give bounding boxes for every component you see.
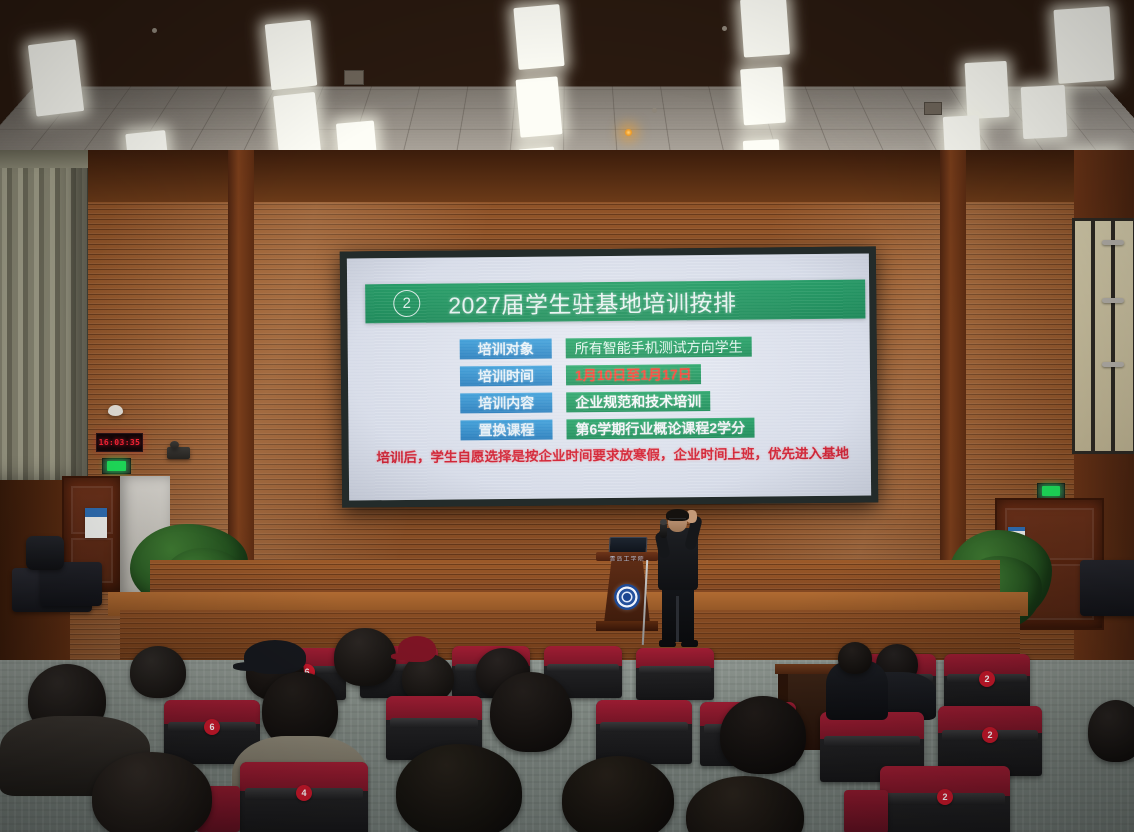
- university-crest-icon: [614, 584, 640, 610]
- audience-head: [334, 628, 396, 686]
- audience-cap: [244, 640, 306, 674]
- slide-row: 培训内容 企业规范和技术培训: [460, 391, 754, 414]
- slide-row-label: 培训内容: [460, 393, 552, 414]
- audience-head: [490, 672, 572, 752]
- seat-cushion: [636, 648, 714, 668]
- seat-rail: [547, 664, 619, 672]
- slide-row-value: 1月10日至1月17日: [566, 364, 701, 385]
- audience-head: [92, 752, 212, 832]
- ceiling-light-panel: [516, 76, 563, 137]
- seat[interactable]: [596, 700, 692, 764]
- ceiling-light-panel: [273, 92, 321, 156]
- audience-head: [1088, 700, 1134, 762]
- slide-row: 培训对象 所有智能手机测试方向学生: [460, 337, 754, 360]
- seat-rail: [390, 718, 478, 728]
- slide-row-value: 第6学期行业概论课程2学分: [566, 418, 754, 440]
- speaker-shoe-left: [659, 640, 676, 647]
- seat-rail: [639, 666, 711, 674]
- seat-rail: [600, 722, 688, 732]
- ceiling-sensor: [722, 26, 727, 31]
- slide-row-label: 培训时间: [460, 366, 552, 387]
- handheld-microphone-icon: [660, 522, 667, 538]
- audience-beanie-red: [398, 636, 436, 662]
- slide-title-bar: 2 2027届学生驻基地培训按排: [365, 280, 865, 324]
- exit-icon: [107, 461, 126, 470]
- window-handle[interactable]: [1102, 362, 1124, 367]
- slide-row: 培训时间 1月10日至1月17日: [460, 364, 754, 387]
- seat-number-badge: 2: [979, 671, 995, 687]
- seat[interactable]: [636, 648, 714, 700]
- slide-row-label: 培训对象: [460, 339, 552, 360]
- seat-rail: [824, 736, 920, 747]
- slide-number-badge: 2: [393, 290, 420, 317]
- side-chair-right[interactable]: [1080, 560, 1134, 616]
- slide-title-text: 2027届学生驻基地培训按排: [448, 283, 736, 320]
- slide-footnote: 培训后，学生自愿选择是按企业时间要求放寒假，企业时间上班，优先进入基地: [371, 442, 855, 467]
- speaker-glasses: [669, 518, 686, 523]
- podium-base: [596, 621, 658, 631]
- seat-cushion: [386, 696, 482, 720]
- clock-time-text: 16:03:35: [99, 438, 141, 447]
- exit-sign-right: [1037, 483, 1065, 499]
- seat[interactable]: 2: [944, 654, 1030, 712]
- window-mullion: [1111, 221, 1115, 451]
- audience-head: [562, 756, 674, 832]
- seat-armrest: [844, 790, 888, 832]
- ceiling-vent: [344, 70, 364, 85]
- seat-number-badge: 6: [204, 719, 220, 735]
- seat-cushion: [544, 646, 622, 666]
- door-notice-header-left: [85, 508, 107, 517]
- auditorium-photo: 2 2027届学生驻基地培训按排 培训对象 所有智能手机测试方向学生 培训时间 …: [0, 0, 1134, 832]
- slide-info-table: 培训对象 所有智能手机测试方向学生 培训时间 1月10日至1月17日 培训内容 …: [460, 337, 755, 441]
- ceiling-light-panel: [513, 4, 564, 70]
- ceiling-light-panel: [740, 0, 790, 58]
- slide-row-label: 置换课程: [460, 420, 552, 441]
- audience-head: [720, 696, 806, 774]
- amber-indicator-lamp: [624, 128, 633, 137]
- exit-sign-left: [102, 458, 131, 474]
- window-curtain-left: [0, 150, 88, 480]
- slide-row: 置换课程 第6学期行业概论课程2学分: [460, 418, 754, 441]
- window-handle[interactable]: [1102, 240, 1124, 245]
- ceiling-light-panel: [28, 39, 84, 116]
- projection-screen: 2 2027届学生驻基地培训按排 培训对象 所有智能手机测试方向学生 培训时间 …: [340, 246, 878, 507]
- wall-speaker-mount-left: [170, 441, 179, 449]
- led-digital-clock: 16:03:35: [96, 433, 143, 452]
- audience-head: [396, 744, 522, 832]
- wall-speaker-left: [167, 447, 190, 459]
- seat[interactable]: 4: [240, 762, 368, 832]
- audience-head: [130, 646, 186, 698]
- exit-icon: [1042, 486, 1060, 495]
- ceiling-vent: [924, 102, 942, 115]
- seat[interactable]: 2: [880, 766, 1010, 832]
- curtain-rail: [0, 150, 88, 168]
- smoke-detector: [108, 405, 123, 416]
- ceiling-light-panel: [965, 61, 1010, 119]
- slide-canvas: 2 2027届学生驻基地培训按排 培训对象 所有智能手机测试方向学生 培训时间 …: [347, 254, 871, 501]
- window-handle[interactable]: [1102, 298, 1124, 303]
- window-mullion: [1091, 221, 1095, 451]
- ceiling-light-panel: [1053, 6, 1114, 84]
- audience-head: [838, 642, 872, 674]
- ceiling-sensor: [152, 28, 157, 33]
- speaker-legs: [662, 586, 694, 642]
- seat-number-badge: 2: [937, 789, 953, 805]
- speaker-shoe-right: [681, 640, 698, 647]
- seat-cushion: [596, 700, 692, 724]
- seat-number-badge: 4: [296, 785, 312, 801]
- ceiling-light-panel: [265, 20, 318, 90]
- side-window: [1072, 218, 1134, 454]
- ceiling-sensor: [652, 108, 657, 113]
- slide-row-value: 企业规范和技术培训: [566, 391, 710, 412]
- ceiling-light-panel: [1021, 85, 1068, 139]
- ceiling-light-panel: [740, 67, 786, 126]
- slide-row-value: 所有智能手机测试方向学生: [566, 337, 752, 359]
- seat-number-badge: 2: [982, 727, 998, 743]
- bag-on-chair: [26, 536, 64, 570]
